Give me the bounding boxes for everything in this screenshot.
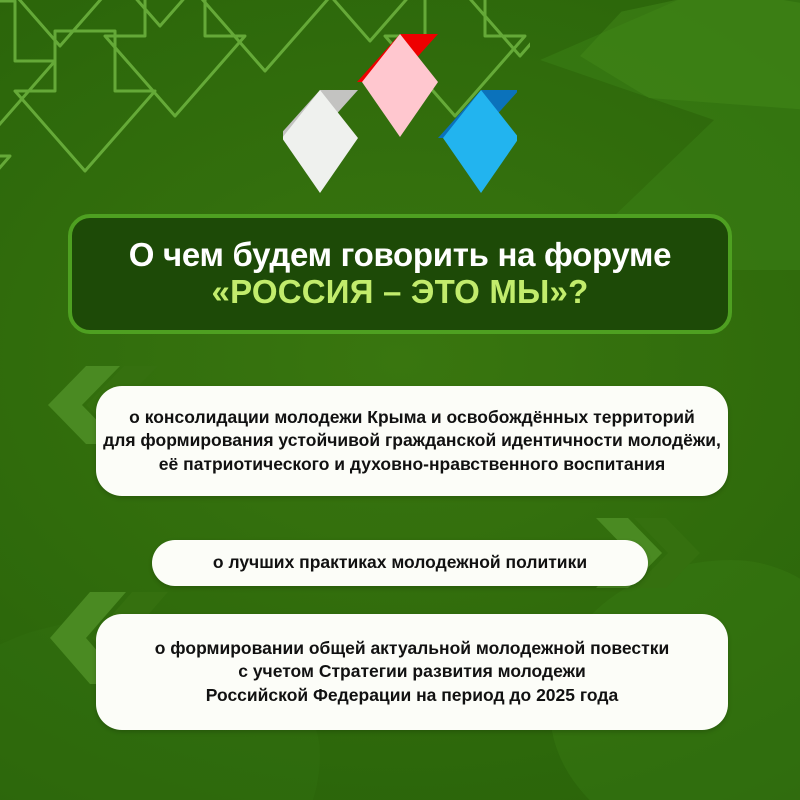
card-1-line-3: её патриотического и духовно-нравственно… [96,453,728,476]
card-1-line-1: о консолидации молодежи Крыма и освобожд… [96,406,728,429]
card-3-line-1: о формировании общей актуальной молодежн… [96,637,728,660]
title-banner: О чем будем говорить на форуме «РОССИЯ –… [68,214,732,334]
pink-diamond [362,34,438,137]
cyan-diamond [443,90,517,193]
card-3-line-2: с учетом Стратегии развития молодежи [96,660,728,683]
background-shape-top-right-secondary [580,0,800,110]
card-item-1: о консолидации молодежи Крыма и освобожд… [96,386,728,496]
card-item-2: о лучших практиках молодежной политики [152,540,648,586]
title-line-1: О чем будем говорить на форуме [129,238,671,273]
white-diamond [283,90,358,193]
title-line-2: «РОССИЯ – ЭТО МЫ»? [212,275,589,310]
card-3-line-3: Российской Федерации на период до 2025 г… [96,684,728,707]
forum-logo [283,24,517,194]
card-1-line-2: для формирования устойчивой гражданской … [96,429,728,452]
card-2-line-1: о лучших практиках молодежной политики [152,551,648,574]
poster-canvas: О чем будем говорить на форуме «РОССИЯ –… [0,0,800,800]
card-item-3: о формировании общей актуальной молодежн… [96,614,728,730]
